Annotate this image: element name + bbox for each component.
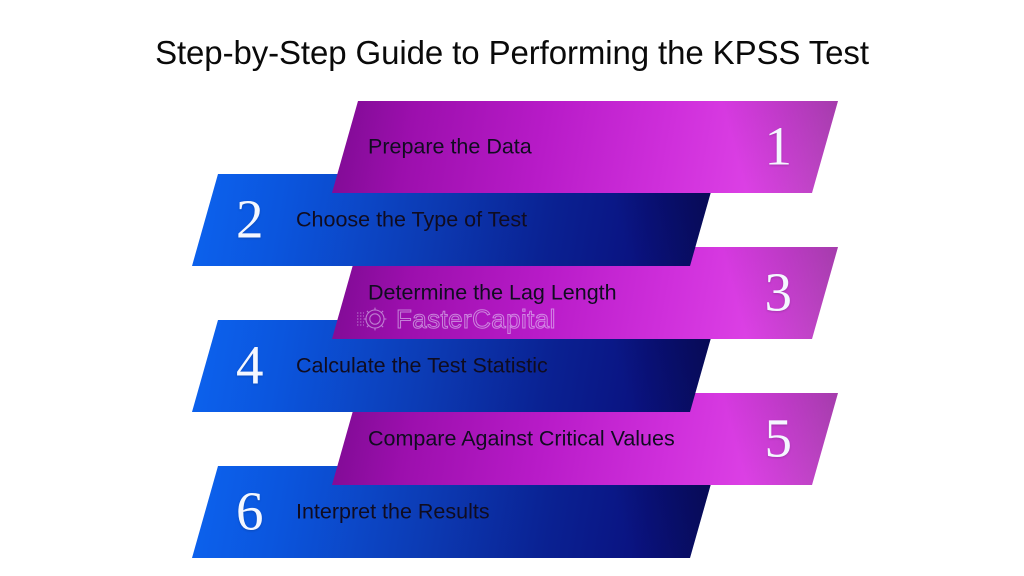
step-banner-6-label: Interpret the Results — [296, 500, 490, 525]
step-banner-4-label: Calculate the Test Statistic — [296, 354, 548, 379]
step-banner-3-number: 3 — [765, 264, 793, 319]
step-banner-1-label: Prepare the Data — [368, 135, 532, 160]
step-banner-2-label: Choose the Type of Test — [296, 208, 527, 233]
step-banner-5-number: 5 — [765, 410, 793, 465]
step-banner-5-label: Compare Against Critical Values — [368, 427, 675, 452]
step-banner-6-number: 6 — [236, 483, 264, 538]
step-banner-1-number: 1 — [765, 118, 793, 173]
steps-diagram: Prepare the Data 1 Choose the Type of Te… — [0, 0, 1024, 576]
step-banner-3-label: Determine the Lag Length — [368, 281, 617, 306]
step-banner-1[interactable]: Prepare the Data 1 — [332, 101, 838, 193]
step-banner-2-number: 2 — [236, 191, 264, 246]
step-banner-4-number: 4 — [236, 337, 264, 392]
